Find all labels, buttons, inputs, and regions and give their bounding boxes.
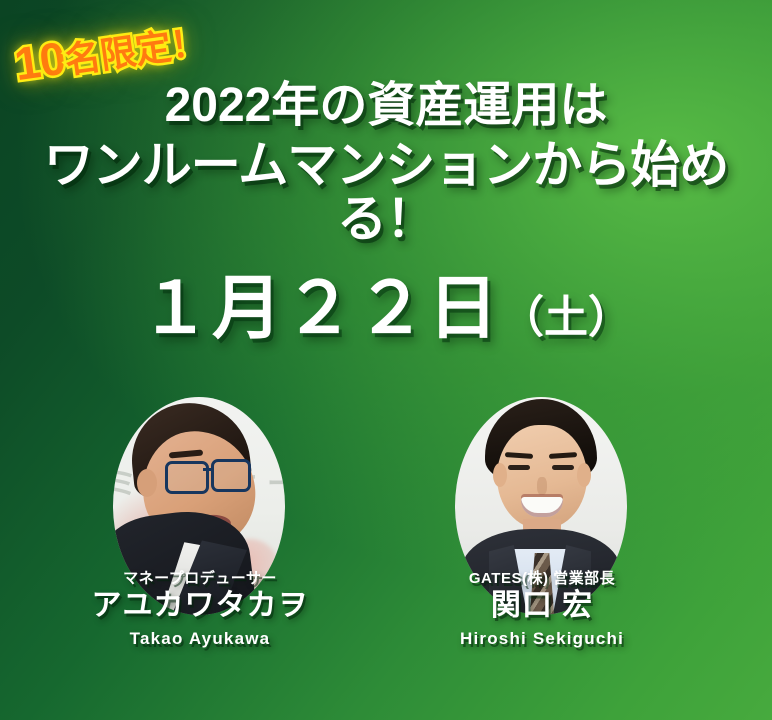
speaker-role: GATES(株) 営業部長 xyxy=(382,570,702,588)
speaker-name-roman: Takao Ayukawa xyxy=(40,629,360,649)
ear-shape xyxy=(137,469,157,497)
headline-line-2: ワンルームマンションから始める！ xyxy=(0,138,772,246)
caption-sekiguchi: GATES(株) 営業部長 関口 宏 Hiroshi Sekiguchi xyxy=(382,570,702,649)
badge-suffix: 名限定！ xyxy=(62,21,208,81)
speaker-role: マネープロデューサー xyxy=(40,570,360,588)
speaker-name: 関口 宏 xyxy=(382,589,702,624)
lens-right xyxy=(211,459,251,492)
nose-shape xyxy=(537,477,547,495)
seminar-banner: 10名限定！ 2022年の資産運用は ワンルームマンションから始める！ １月２２… xyxy=(0,0,772,720)
eye-right-shape xyxy=(552,465,574,470)
eye-left-shape xyxy=(508,465,530,470)
speaker-name: アユカワタカヲ xyxy=(40,589,360,624)
glasses-icon xyxy=(165,459,257,489)
headline: 2022年の資産運用は ワンルームマンションから始める！ xyxy=(0,80,772,246)
speaker-name-roman: Hiroshi Sekiguchi xyxy=(382,629,702,649)
headline-line-1: 2022年の資産運用は xyxy=(0,80,772,132)
event-date-dow: （土） xyxy=(500,293,632,342)
ear-left-shape xyxy=(493,463,507,487)
event-date-main: １月２２日 xyxy=(140,269,500,347)
lens-left xyxy=(165,461,209,494)
event-date: １月２２日（土） xyxy=(0,252,772,353)
caption-ayukawa: マネープロデューサー アユカワタカヲ Takao Ayukawa xyxy=(40,570,360,649)
ear-right-shape xyxy=(577,463,591,487)
